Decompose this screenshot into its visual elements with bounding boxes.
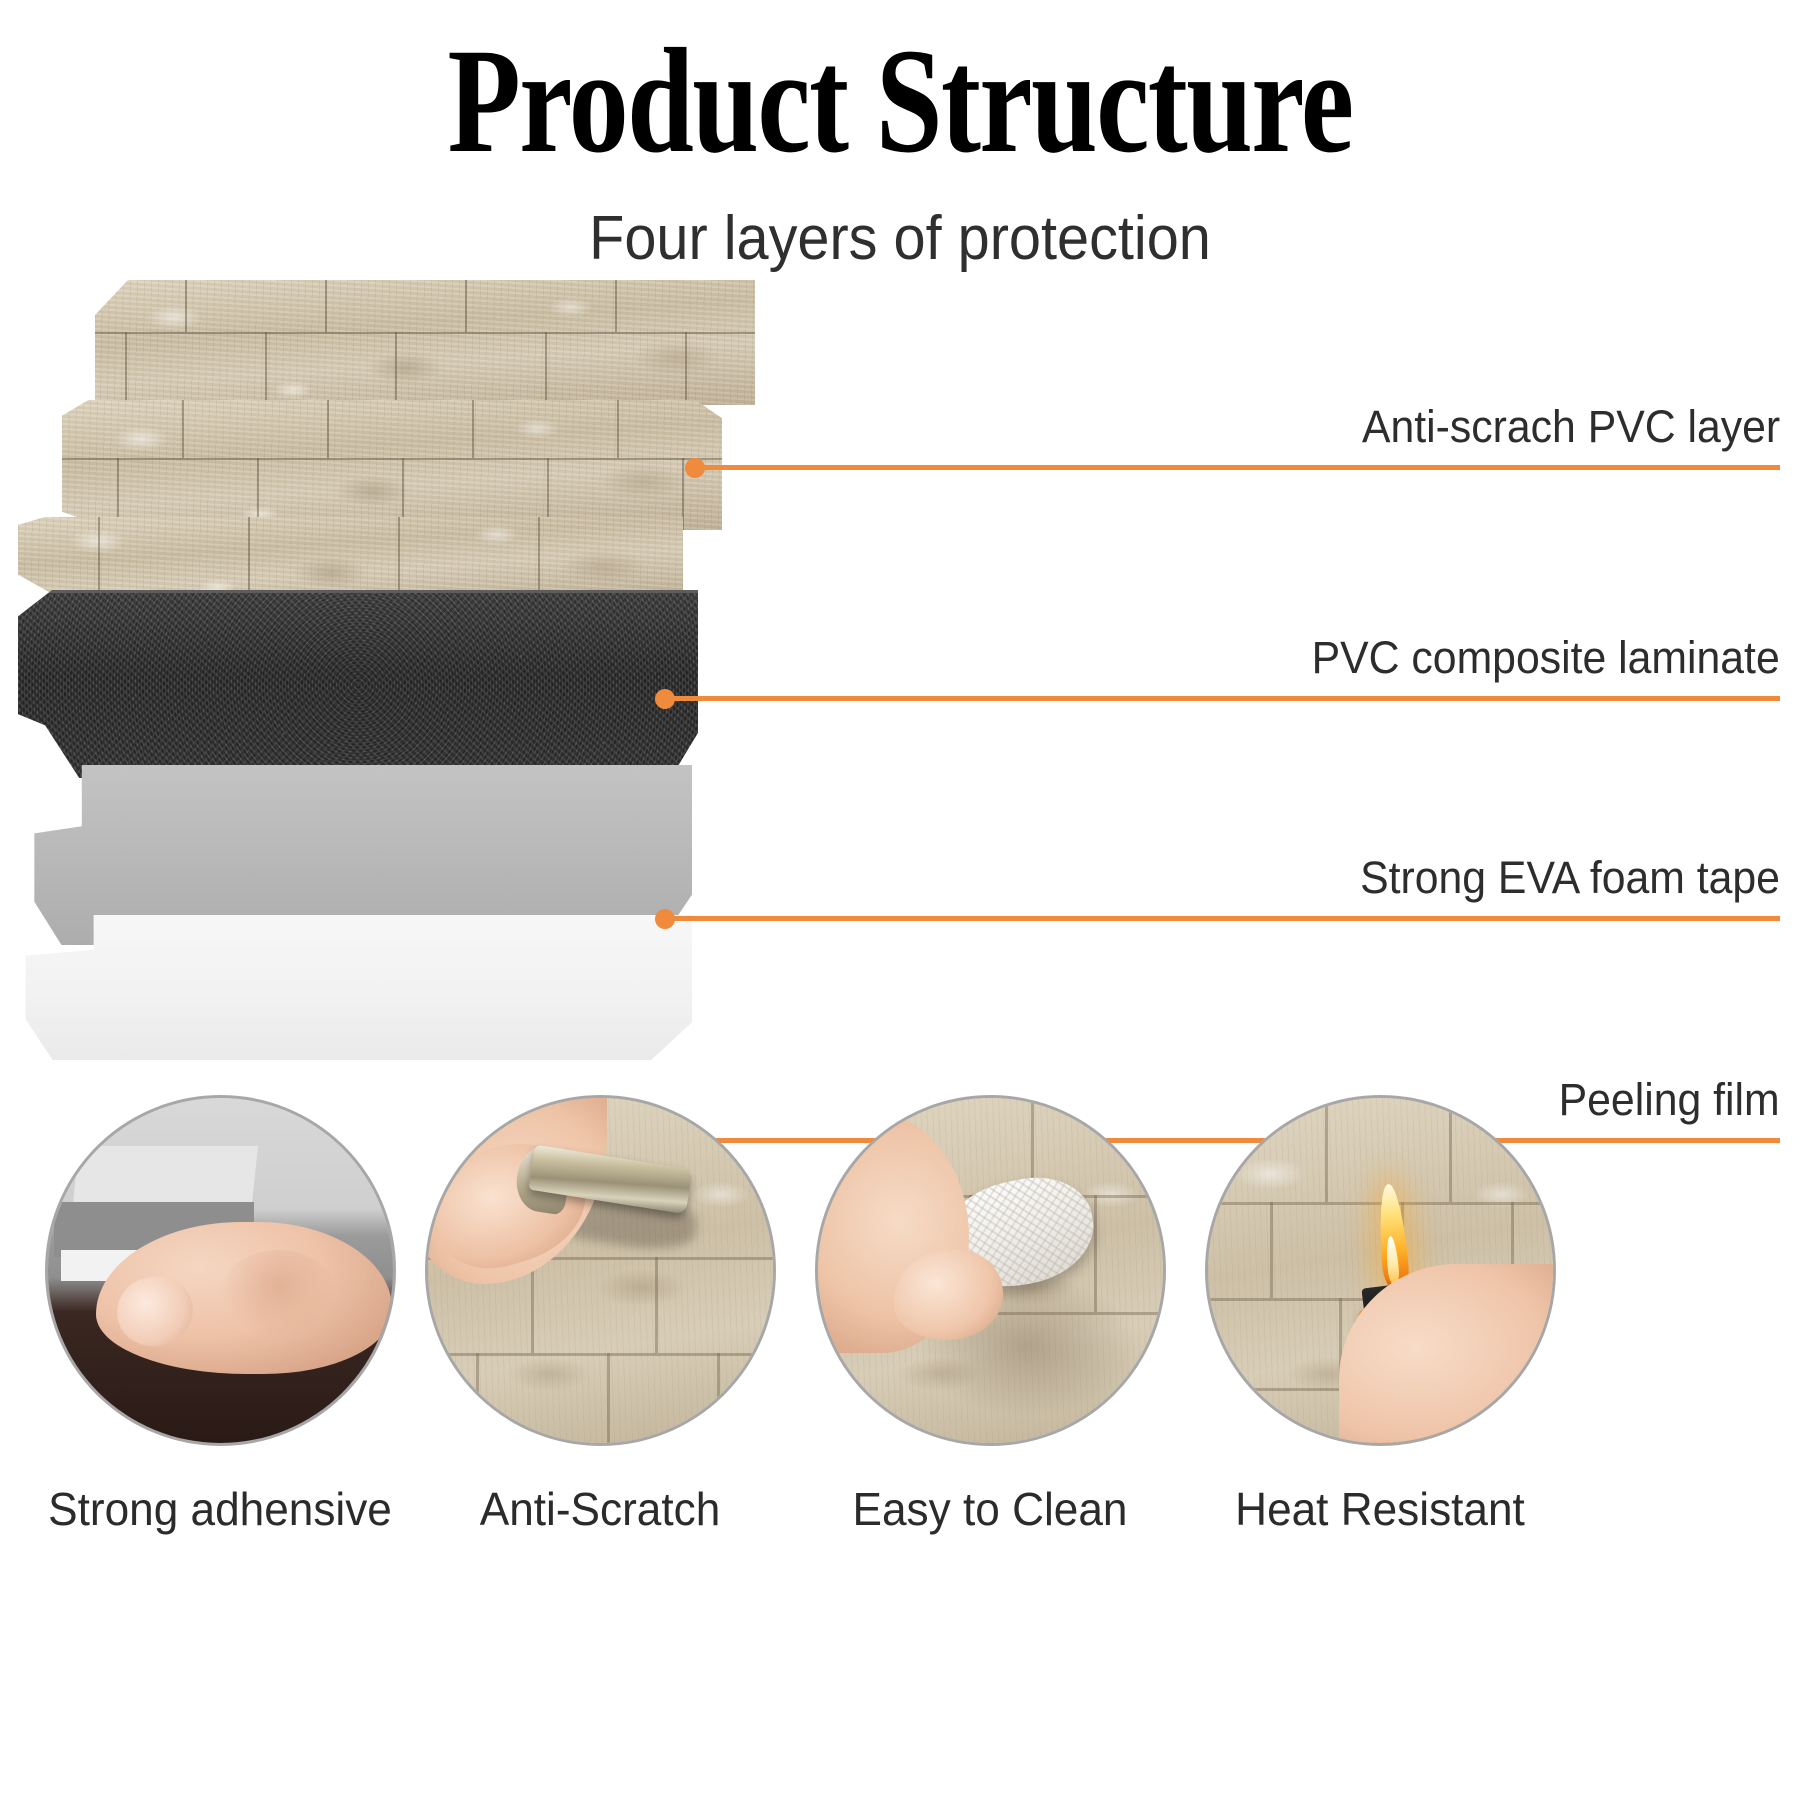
layer-anti-scratch-pvc: [95, 280, 755, 405]
feature-heat-resistant: Heat Resistant: [1180, 1095, 1580, 1536]
lighter-flame-icon: [1205, 1095, 1556, 1446]
feature-row: Strong adhensive Anti-Sc: [0, 1095, 1800, 1795]
callout-rule: [663, 916, 1780, 921]
layer-peeling-film: [12, 915, 692, 1060]
feature-easy-to-clean: Easy to Clean: [790, 1095, 1190, 1536]
callout-label-anti-scratch-pvc: Anti-scrach PVC layer: [1362, 401, 1780, 453]
feature-caption-easy-to-clean: Easy to Clean: [798, 1482, 1182, 1536]
callout-rule: [663, 696, 1780, 701]
callout-label-pvc-composite: PVC composite laminate: [1312, 632, 1780, 684]
layer-pvc-composite-laminate: [62, 400, 722, 530]
callout-rule: [693, 465, 1780, 470]
feature-caption-anti-scratch: Anti-Scratch: [408, 1482, 792, 1536]
feature-caption-strong-adhesive: Strong adhensive: [28, 1482, 412, 1536]
feature-caption-heat-resistant: Heat Resistant: [1188, 1482, 1572, 1536]
layer-pvc-composite-laminate-lower: [18, 517, 683, 597]
thumb-press-icon: [45, 1095, 396, 1446]
layer-eva-foam-tape: [18, 590, 698, 778]
layer-stack-diagram: [0, 255, 820, 1065]
feature-anti-scratch: Anti-Scratch: [400, 1095, 800, 1536]
key-scratch-icon: [425, 1095, 776, 1446]
cloth-wipe-icon: [815, 1095, 1166, 1446]
infographic-page: Product Structure Four layers of protect…: [0, 0, 1800, 1800]
feature-strong-adhesive: Strong adhensive: [20, 1095, 420, 1536]
page-title: Product Structure: [180, 26, 1620, 176]
callout-label-eva-foam-tape: Strong EVA foam tape: [1360, 852, 1780, 904]
header: Product Structure Four layers of protect…: [0, 0, 1800, 270]
